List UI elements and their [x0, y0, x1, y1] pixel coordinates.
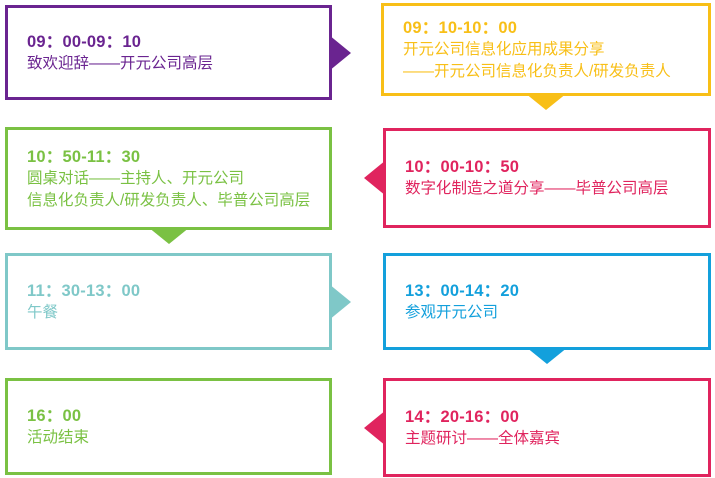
- schedule-card-body: 10：00-10：50数字化制造之道分享——毕普公司高层: [405, 156, 700, 200]
- schedule-time: 11：30-13：00: [27, 280, 321, 302]
- schedule-description-line: 信息化负责人/研发负责人、毕普公司高层: [27, 190, 321, 212]
- flow-arrow-down-icon: [526, 347, 568, 364]
- schedule-card-body: 09：00-09：10致欢迎辞——开元公司高层: [27, 31, 321, 75]
- schedule-description-line: 开元公司信息化应用成果分享: [403, 39, 700, 61]
- schedule-card-session-welcome: 09：00-09：10致欢迎辞——开元公司高层: [5, 5, 332, 100]
- schedule-time: 10：50-11：30: [27, 146, 321, 168]
- schedule-time: 14：20-16：00: [405, 406, 700, 428]
- schedule-card-body: 14：20-16：00主题研讨——全体嘉宾: [405, 406, 700, 450]
- flow-arrow-down-icon: [148, 227, 190, 244]
- schedule-description-line: 参观开元公司: [405, 302, 700, 324]
- schedule-card-session-digital-manufacturing: 10：00-10：50数字化制造之道分享——毕普公司高层: [383, 128, 711, 228]
- schedule-description-line: 致欢迎辞——开元公司高层: [27, 53, 321, 75]
- schedule-description-line: 活动结束: [27, 427, 321, 449]
- schedule-card-session-roundtable: 10：50-11：30圆桌对话——主持人、开元公司信息化负责人/研发负责人、毕普…: [5, 127, 332, 230]
- schedule-card-body: 09：10-10：00开元公司信息化应用成果分享——开元公司信息化负责人/研发负…: [403, 17, 700, 83]
- schedule-card-body: 16：00活动结束: [27, 405, 321, 449]
- schedule-time: 16：00: [27, 405, 321, 427]
- schedule-time: 13：00-14：20: [405, 280, 700, 302]
- schedule-time: 10：00-10：50: [405, 156, 700, 178]
- schedule-description-line: 数字化制造之道分享——毕普公司高层: [405, 178, 700, 200]
- schedule-time: 09：00-09：10: [27, 31, 321, 53]
- flow-arrow-right-icon: [329, 35, 351, 71]
- schedule-card-body: 11：30-13：00午餐: [27, 280, 321, 324]
- schedule-description-line: 午餐: [27, 302, 321, 324]
- schedule-description-line: ——开元公司信息化负责人/研发负责人: [403, 61, 700, 83]
- schedule-description-line: 圆桌对话——主持人、开元公司: [27, 168, 321, 190]
- schedule-time: 09：10-10：00: [403, 17, 700, 39]
- schedule-card-body: 13：00-14：20参观开元公司: [405, 280, 700, 324]
- schedule-timeline: 09：00-09：10致欢迎辞——开元公司高层09：10-10：00开元公司信息…: [0, 0, 715, 478]
- flow-arrow-left-icon: [364, 160, 386, 196]
- schedule-card-session-lunch: 11：30-13：00午餐: [5, 253, 332, 350]
- flow-arrow-right-icon: [329, 284, 351, 320]
- schedule-card-session-visit: 13：00-14：20参观开元公司: [383, 253, 711, 350]
- flow-arrow-left-icon: [364, 410, 386, 446]
- schedule-card-session-closing: 16：00活动结束: [5, 378, 332, 475]
- flow-arrow-down-icon: [525, 93, 567, 110]
- schedule-description-line: 主题研讨——全体嘉宾: [405, 428, 700, 450]
- schedule-card-session-informatization-sharing: 09：10-10：00开元公司信息化应用成果分享——开元公司信息化负责人/研发负…: [381, 3, 711, 96]
- schedule-card-session-seminar: 14：20-16：00主题研讨——全体嘉宾: [383, 378, 711, 477]
- schedule-card-body: 10：50-11：30圆桌对话——主持人、开元公司信息化负责人/研发负责人、毕普…: [27, 146, 321, 212]
